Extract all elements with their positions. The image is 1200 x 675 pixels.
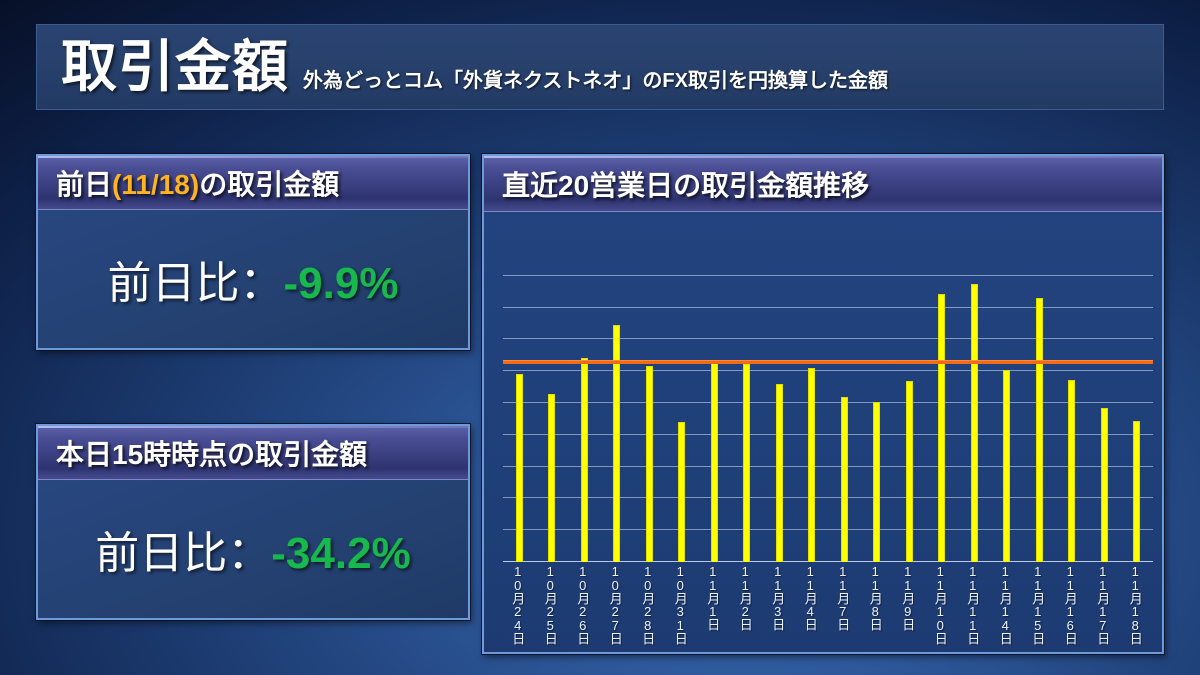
x-axis-label: 10月25日 bbox=[544, 564, 560, 644]
today-panel: 本日15時時点の取引金額 前日比：-34.2% bbox=[36, 424, 470, 620]
bar bbox=[906, 381, 913, 562]
gridline bbox=[503, 529, 1153, 530]
bar bbox=[581, 358, 588, 562]
bar bbox=[711, 362, 718, 562]
bar bbox=[1101, 408, 1108, 562]
today-compare-line: 前日比：-34.2% bbox=[95, 517, 410, 581]
previous-day-panel-header: 前日(11/18)の取引金額 bbox=[38, 156, 468, 210]
gridline bbox=[503, 497, 1153, 498]
x-axis-labels: 10月24日10月25日10月26日10月27日10月28日10月31日11月1… bbox=[503, 564, 1153, 650]
bar-chart-plot bbox=[503, 244, 1153, 562]
bar bbox=[646, 366, 653, 562]
axis-baseline bbox=[503, 561, 1153, 562]
gridline bbox=[503, 402, 1153, 403]
today-compare-value: -34.2% bbox=[271, 529, 410, 578]
x-axis-label: 11月4日 bbox=[804, 564, 820, 630]
header-band: 取引金額 外為どっとコム「外貨ネクストネオ」のFX取引を円換算した金額 bbox=[36, 24, 1164, 110]
today-panel-header: 本日15時時点の取引金額 bbox=[38, 426, 468, 480]
previous-day-panel-title: 前日(11/18)の取引金額 bbox=[56, 163, 339, 203]
slide-canvas: 取引金額 外為どっとコム「外貨ネクストネオ」のFX取引を円換算した金額 前日(1… bbox=[0, 0, 1200, 675]
x-axis-label: 11月2日 bbox=[739, 564, 755, 630]
today-compare-label: 前日比： bbox=[95, 529, 271, 578]
x-axis-label: 10月28日 bbox=[641, 564, 657, 644]
x-axis-label: 10月31日 bbox=[674, 564, 690, 644]
bar bbox=[776, 384, 783, 562]
x-axis-label: 11月10日 bbox=[934, 564, 950, 644]
gridline bbox=[503, 275, 1153, 276]
previous-day-panel: 前日(11/18)の取引金額 前日比：-9.9% bbox=[36, 154, 470, 350]
bar bbox=[1036, 298, 1043, 562]
previous-day-compare-line: 前日比：-9.9% bbox=[108, 247, 399, 311]
page-title: 取引金額 bbox=[61, 39, 289, 95]
x-axis-label: 11月8日 bbox=[869, 564, 885, 630]
chart-panel-title: 直近20営業日の取引金額推移 bbox=[502, 164, 869, 204]
bar bbox=[841, 397, 848, 562]
x-axis-label: 11月17日 bbox=[1096, 564, 1112, 644]
x-axis-label: 11月15日 bbox=[1031, 564, 1047, 644]
chart-panel: 直近20営業日の取引金額推移 10月24日10月25日10月26日10月27日1… bbox=[482, 154, 1164, 654]
x-axis-label: 11月14日 bbox=[999, 564, 1015, 644]
previous-day-compare-value: -9.9% bbox=[284, 259, 399, 308]
x-axis-label: 11月1日 bbox=[706, 564, 722, 630]
chart-panel-header: 直近20営業日の取引金額推移 bbox=[484, 156, 1162, 212]
previous-day-title-suffix: の取引金額 bbox=[199, 169, 339, 200]
bar bbox=[548, 394, 555, 562]
page-subtitle: 外為どっとコム「外貨ネクストネオ」のFX取引を円換算した金額 bbox=[303, 64, 888, 95]
bar bbox=[873, 402, 880, 562]
x-axis-label: 11月16日 bbox=[1064, 564, 1080, 644]
bar bbox=[678, 422, 685, 562]
gridline bbox=[503, 307, 1153, 308]
previous-day-panel-body: 前日比：-9.9% bbox=[38, 210, 468, 348]
bar bbox=[808, 368, 815, 562]
x-axis-label: 10月26日 bbox=[576, 564, 592, 644]
bar bbox=[516, 374, 523, 562]
bar bbox=[971, 284, 978, 562]
gridline bbox=[503, 466, 1153, 467]
today-panel-title: 本日15時時点の取引金額 bbox=[56, 433, 367, 473]
bar bbox=[938, 294, 945, 562]
previous-day-compare-label: 前日比： bbox=[108, 259, 284, 308]
average-reference-line bbox=[503, 360, 1153, 364]
gridline bbox=[503, 338, 1153, 339]
bar bbox=[1003, 370, 1010, 562]
x-axis-label: 10月24日 bbox=[511, 564, 527, 644]
today-panel-body: 前日比：-34.2% bbox=[38, 480, 468, 618]
gridline bbox=[503, 434, 1153, 435]
bar bbox=[1133, 421, 1140, 562]
chart-area: 10月24日10月25日10月26日10月27日10月28日10月31日11月1… bbox=[484, 212, 1162, 652]
x-axis-label: 11月3日 bbox=[771, 564, 787, 630]
bar bbox=[1068, 380, 1075, 562]
x-axis-label: 11月11日 bbox=[966, 564, 982, 644]
previous-day-title-prefix: 前日 bbox=[56, 169, 112, 200]
x-axis-label: 11月9日 bbox=[901, 564, 917, 630]
bar bbox=[743, 364, 750, 562]
x-axis-label: 11月7日 bbox=[836, 564, 852, 630]
x-axis-label: 10月27日 bbox=[609, 564, 625, 644]
previous-day-title-date: (11/18) bbox=[112, 169, 199, 200]
gridline bbox=[503, 370, 1153, 371]
x-axis-label: 11月18日 bbox=[1129, 564, 1145, 644]
